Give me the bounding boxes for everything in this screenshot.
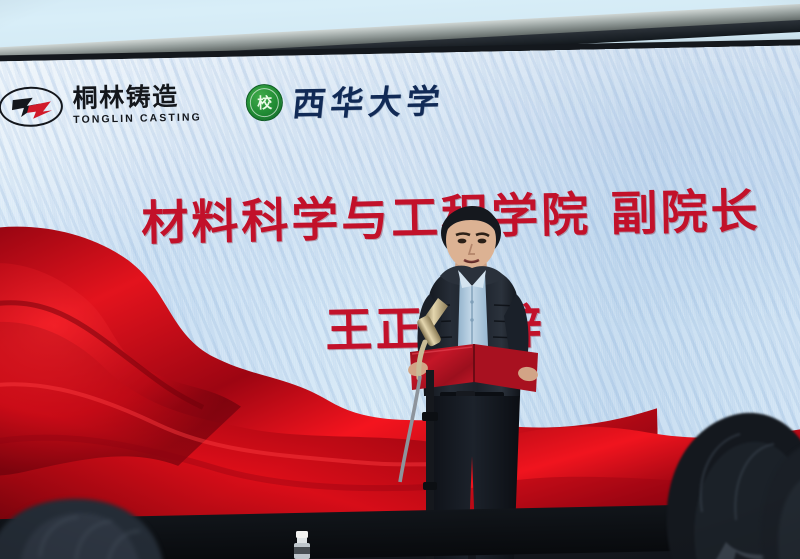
xihua-emblem-icon: 校 <box>245 83 283 121</box>
tonglin-mark-icon <box>0 86 63 127</box>
tonglin-chinese-name: 桐林铸造 <box>73 84 202 112</box>
audience-head-left <box>0 487 230 559</box>
tonglin-casting-logo: 桐林铸造 TONGLIN CASTING <box>0 83 202 127</box>
photo-scene: 桐林铸造 TONGLIN CASTING 校 西华大学 材料科学与工程学院 副院… <box>0 0 800 559</box>
water-bottle <box>291 531 313 559</box>
xihua-emblem-glyph: 校 <box>257 91 271 112</box>
tonglin-text-block: 桐林铸造 TONGLIN CASTING <box>73 84 203 126</box>
audience-head-far-right <box>760 430 800 559</box>
xihua-university-logo: 校 西华大学 <box>245 74 445 126</box>
xihua-university-name: 西华大学 <box>290 74 447 125</box>
screen-logo-bar: 桐林铸造 TONGLIN CASTING 校 西华大学 <box>0 74 445 131</box>
tonglin-english-name: TONGLIN CASTING <box>73 113 202 126</box>
